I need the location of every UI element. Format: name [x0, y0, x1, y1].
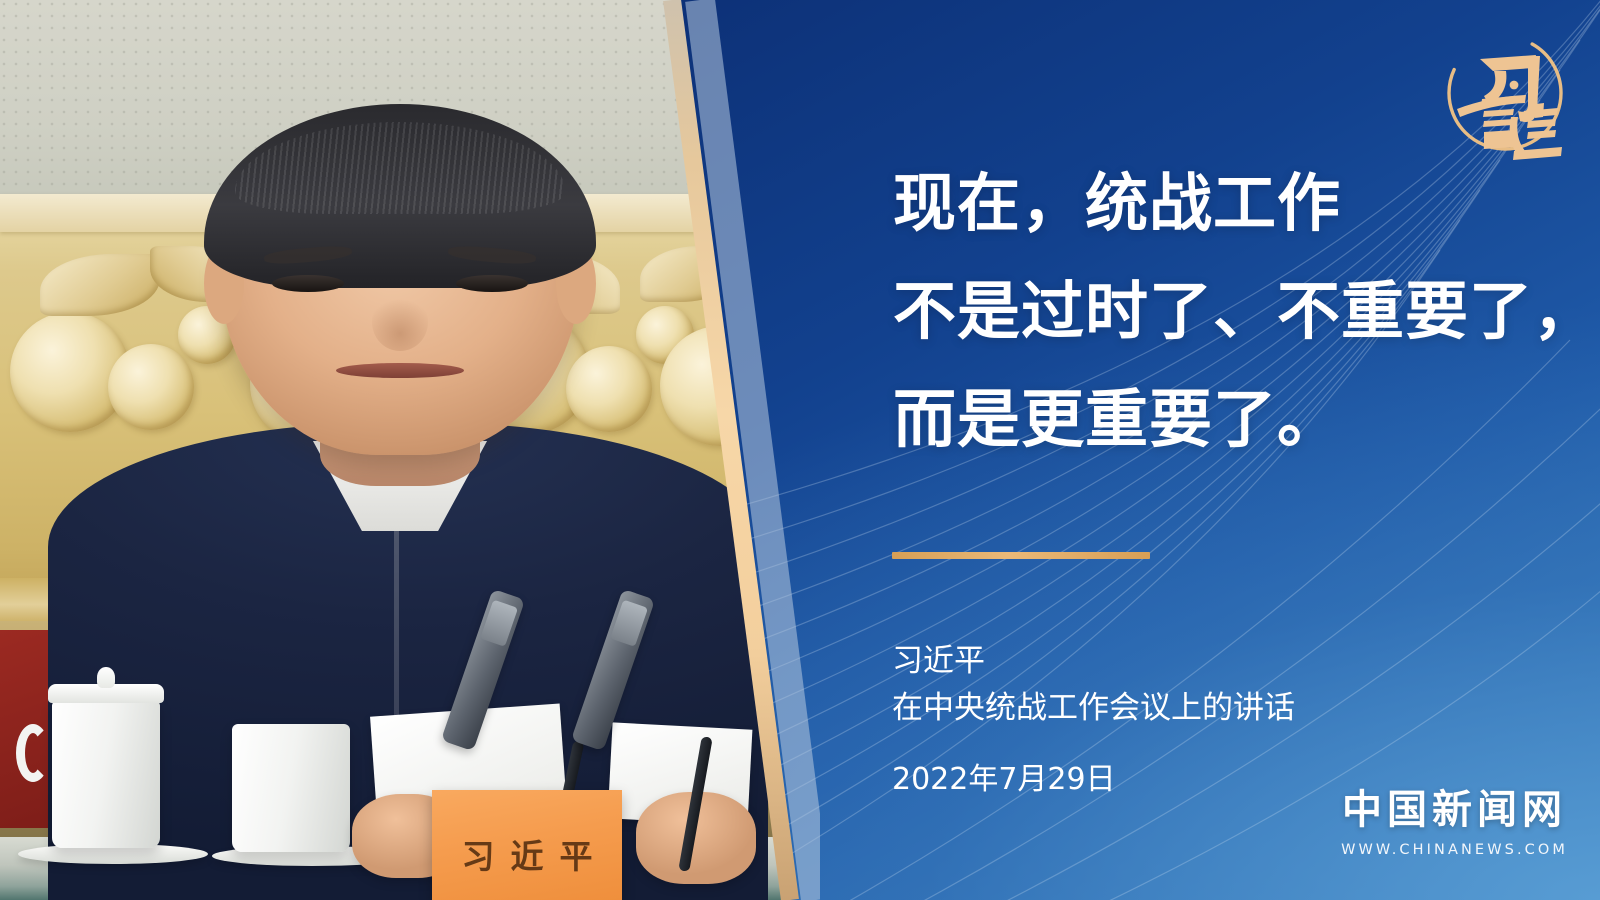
quote-line-1: 现在，统战工作	[893, 150, 1593, 258]
quote-block: 现在，统战工作 不是过时了、不重要了， 而是更重要了。	[893, 150, 1593, 474]
teacup	[232, 724, 350, 852]
attribution-block: 习近平 在中央统战工作会议上的讲话 2022年7月29日	[892, 638, 1295, 802]
mug-handle	[16, 724, 50, 782]
xi-yan-dao-seal-icon	[1440, 25, 1570, 165]
chinanews-brand[interactable]: 中国新闻网 WWW.CHINANEWS.COM	[1341, 777, 1568, 858]
nameplate: 习近平	[432, 790, 622, 900]
mouth	[336, 363, 464, 378]
poster-root: 习近平	[0, 0, 1600, 900]
nose	[372, 293, 428, 352]
content-column: 现在，统战工作 不是过时了、不重要了， 而是更重要了。 习近平 在中央统战工作会…	[800, 0, 1600, 900]
gold-divider-rule	[892, 552, 1150, 559]
quote-line-2: 不是过时了、不重要了，	[893, 258, 1593, 366]
brand-name: 中国新闻网	[1341, 777, 1568, 835]
occasion-text: 在中央统战工作会议上的讲话	[892, 684, 1295, 732]
brand-url: WWW.CHINANEWS.COM	[1341, 842, 1568, 858]
portrait-photo: 习近平	[0, 0, 800, 900]
nameplate-text: 习近平	[432, 830, 622, 878]
lidded-teacup	[52, 700, 160, 848]
speech-date: 2022年7月29日	[892, 758, 1295, 802]
speaker-name: 习近平	[892, 638, 1295, 684]
quote-line-3: 而是更重要了。	[893, 366, 1593, 474]
